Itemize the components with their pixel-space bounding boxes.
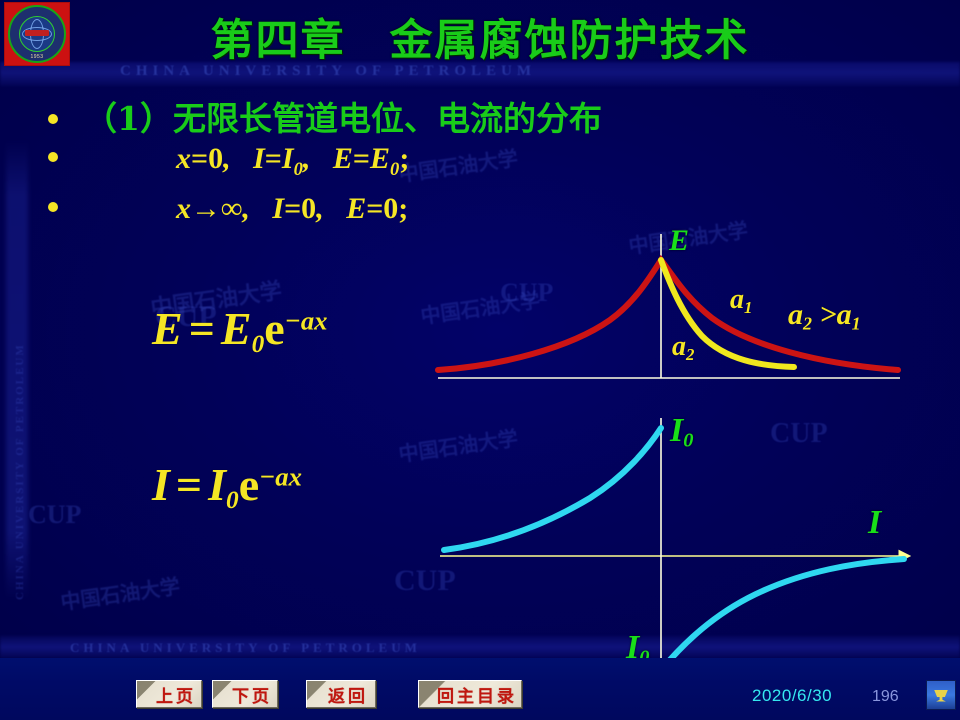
bullet-list: （1）无限长管道电位、电流的分布 x=0, I=I0, E=E0; x→∞, I… (0, 92, 960, 242)
next-page-label: 下页 (218, 682, 272, 707)
next-page-button[interactable]: 下页 (212, 680, 278, 708)
bullet-text: x=0, I=I0, E=E0; (68, 142, 409, 181)
axis-label-I0-upper: I0 (670, 412, 693, 453)
page-number: 196 (872, 688, 899, 706)
formula-potential: E=E0e−ax (152, 302, 328, 359)
bullet-text: （1）无限长管道电位、电流的分布 (68, 92, 602, 140)
curve-label-a1: a1 (730, 284, 752, 318)
comparison-note: a2 >a1 (788, 298, 861, 334)
title-chapter: 第四章 (211, 16, 346, 66)
axis-label-I: I (868, 504, 881, 542)
back-button[interactable]: 返回 (306, 680, 376, 708)
axis-label-E: E (669, 224, 689, 258)
chart-current-distribution: I0 I0 I (430, 404, 940, 674)
bullet-dot-icon (48, 152, 58, 162)
bullet-text: x→∞, I=0, E=0; (68, 192, 408, 226)
back-label: 返回 (314, 682, 368, 707)
formula-equals: = (183, 303, 221, 354)
list-item: （1）无限长管道电位、电流的分布 (0, 92, 960, 142)
prev-page-label: 上页 (142, 682, 196, 707)
main-menu-label: 回主目录 (423, 682, 517, 707)
formula-exponent: −ax (259, 461, 302, 491)
formula-exponent: −ax (285, 305, 328, 335)
trophy-icon (926, 680, 956, 710)
bullet-dot-icon (48, 114, 58, 124)
page-title: 第四章金属腐蚀防护技术 (0, 6, 960, 68)
formula-exp-base: e (239, 459, 259, 510)
curve-label-a2: a2 (672, 331, 694, 365)
list-item: x=0, I=I0, E=E0; (0, 142, 960, 192)
formula-exp-base: e (264, 303, 284, 354)
formula-rhs-sub: 0 (252, 330, 265, 358)
trophy-cup-shape (934, 690, 948, 702)
formula-lhs: E (152, 303, 183, 354)
main-menu-button[interactable]: 回主目录 (418, 680, 522, 708)
formula-rhs-var: I (208, 459, 226, 510)
curve-right-branch (661, 559, 904, 670)
formula-rhs-sub: 0 (226, 486, 239, 514)
formula-rhs-var: E (221, 303, 252, 354)
date-text: 2020/6/30 (752, 686, 832, 706)
curve-left-branch (444, 428, 661, 550)
title-subject: 金属腐蚀防护技术 (390, 16, 750, 66)
formula-equals: = (170, 459, 208, 510)
chart-potential-distribution: E a1 a2 a2 >a1 (430, 222, 930, 392)
bullet-dot-icon (48, 202, 58, 212)
prev-page-button[interactable]: 上页 (136, 680, 202, 708)
formula-current: I=I0e−ax (152, 458, 302, 515)
presentation-slide: 中国石油大学 中国石油大学 中国石油大学 中国石油大学 中国石油大学 中国石油大… (0, 0, 960, 720)
formula-lhs: I (152, 459, 170, 510)
